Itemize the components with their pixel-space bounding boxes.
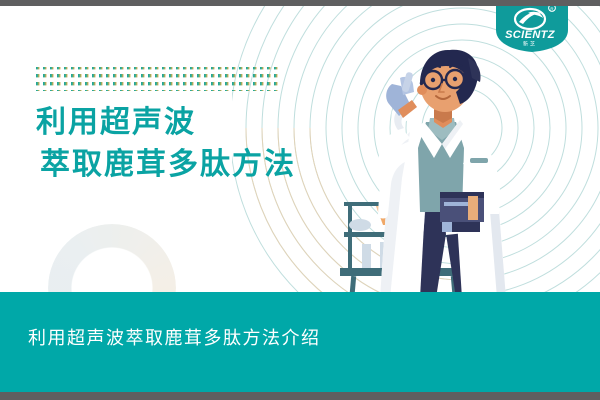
clipboard-folder xyxy=(440,192,484,222)
page-title-line-2: 萃取鹿茸多肽方法 xyxy=(40,144,336,186)
svg-text:R: R xyxy=(550,7,553,12)
bottom-caption-banner: 利用超声波萃取鹿茸多肽方法介绍 xyxy=(0,292,600,392)
screenshot-root: 利用超声波 萃取鹿茸多肽方法 利用超声波萃取鹿茸多肽方法介绍 R SCIENTZ… xyxy=(0,0,600,400)
window-top-bar xyxy=(0,0,600,6)
window-bottom-bar xyxy=(0,392,600,400)
page-title: 利用超声波 萃取鹿茸多肽方法 xyxy=(36,102,336,186)
poster-canvas: 利用超声波 萃取鹿茸多肽方法 利用超声波萃取鹿茸多肽方法介绍 xyxy=(0,6,600,392)
dot-grid-ornament xyxy=(36,66,278,92)
scientist-figure xyxy=(378,50,506,300)
logo-wordmark: SCIENTZ xyxy=(505,29,556,41)
bottom-caption-text: 利用超声波萃取鹿茸多肽方法介绍 xyxy=(28,324,321,350)
logo-subtext: 新芝 xyxy=(523,41,537,48)
scientz-logo[interactable]: R SCIENTZ 新芝 xyxy=(496,0,568,52)
page-title-line-1: 利用超声波 xyxy=(36,102,336,144)
